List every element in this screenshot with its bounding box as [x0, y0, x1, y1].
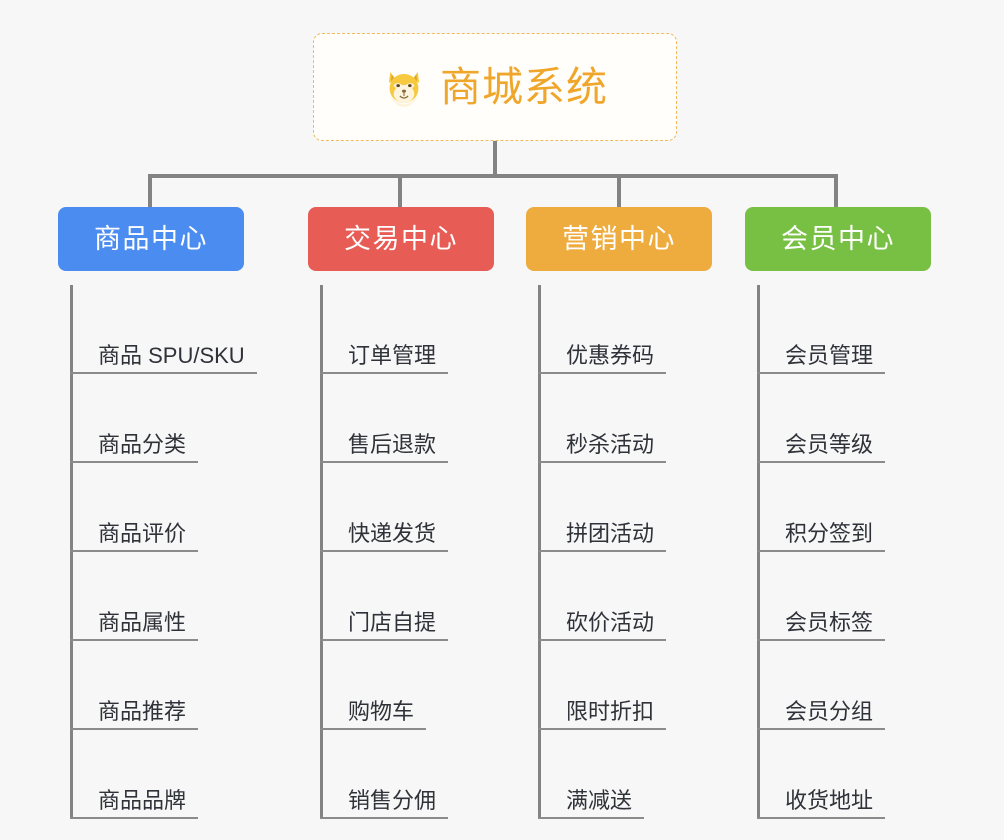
leaf-label: 秒杀活动 — [538, 434, 654, 463]
leaf-label: 商品品牌 — [70, 790, 186, 819]
leaf-label: 满减送 — [538, 790, 632, 819]
leaf-item[interactable]: 门店自提 — [320, 552, 494, 641]
connector-drop-4 — [834, 174, 838, 208]
leaf-item[interactable]: 商品 SPU/SKU — [70, 285, 244, 374]
mindmap-canvas: 商城系统 商品中心 商品 SPU/SKU 商品分类 商品评价 — [0, 0, 1004, 840]
leaf-item[interactable]: 优惠券码 — [538, 285, 712, 374]
leaf-item[interactable]: 商品品牌 — [70, 730, 244, 819]
branch-column-4: 会员中心 会员管理 会员等级 积分签到 会员标签 会员分组 — [745, 207, 931, 819]
leaf-item[interactable]: 销售分佣 — [320, 730, 494, 819]
connector-root-stem — [493, 141, 497, 177]
leaf-item[interactable]: 满减送 — [538, 730, 712, 819]
leaf-item[interactable]: 积分签到 — [757, 463, 931, 552]
root-node[interactable]: 商城系统 — [313, 33, 677, 141]
leaf-label: 订单管理 — [320, 345, 436, 374]
leaf-label: 销售分佣 — [320, 790, 436, 819]
branch-header-1[interactable]: 商品中心 — [58, 207, 244, 271]
leaf-label: 快递发货 — [320, 523, 436, 552]
root-title: 商城系统 — [440, 67, 608, 108]
leaf-label: 收货地址 — [757, 790, 873, 819]
leaf-item[interactable]: 商品推荐 — [70, 641, 244, 730]
leaf-stack-2: 订单管理 售后退款 快递发货 门店自提 购物车 销售分佣 — [320, 285, 494, 819]
leaf-label: 售后退款 — [320, 434, 436, 463]
leaf-item[interactable]: 会员管理 — [757, 285, 931, 374]
branch-header-4[interactable]: 会员中心 — [745, 207, 931, 271]
leaf-label: 优惠券码 — [538, 345, 654, 374]
leaf-label: 会员管理 — [757, 345, 873, 374]
leaf-item[interactable]: 限时折扣 — [538, 641, 712, 730]
shiba-dog-icon — [382, 65, 426, 109]
leaf-stack-1: 商品 SPU/SKU 商品分类 商品评价 商品属性 商品推荐 商品品牌 — [70, 285, 244, 819]
leaf-label: 拼团活动 — [538, 523, 654, 552]
leaf-item[interactable]: 商品属性 — [70, 552, 244, 641]
branch-header-label: 商品中心 — [94, 226, 208, 253]
branch-header-3[interactable]: 营销中心 — [526, 207, 712, 271]
leaf-label: 积分签到 — [757, 523, 873, 552]
leaf-item[interactable]: 砍价活动 — [538, 552, 712, 641]
connector-drop-3 — [617, 174, 621, 208]
leaf-label: 会员标签 — [757, 612, 873, 641]
leaf-item[interactable]: 商品评价 — [70, 463, 244, 552]
leaf-item[interactable]: 收货地址 — [757, 730, 931, 819]
branch-column-3: 营销中心 优惠券码 秒杀活动 拼团活动 砍价活动 限时折扣 — [526, 207, 712, 819]
leaf-stack-3: 优惠券码 秒杀活动 拼团活动 砍价活动 限时折扣 满减送 — [538, 285, 712, 819]
branch-header-label: 会员中心 — [781, 226, 895, 253]
leaf-stack-4: 会员管理 会员等级 积分签到 会员标签 会员分组 收货地址 — [757, 285, 931, 819]
leaf-item[interactable]: 秒杀活动 — [538, 374, 712, 463]
leaf-item[interactable]: 会员分组 — [757, 641, 931, 730]
leaf-label: 商品 SPU/SKU — [70, 345, 245, 374]
leaf-label: 砍价活动 — [538, 612, 654, 641]
leaf-label: 门店自提 — [320, 612, 436, 641]
leaf-label: 商品属性 — [70, 612, 186, 641]
connector-horizontal-bus — [148, 174, 838, 178]
leaf-item[interactable]: 拼团活动 — [538, 463, 712, 552]
branch-header-label: 营销中心 — [562, 226, 676, 253]
leaf-label: 会员分组 — [757, 701, 873, 730]
branch-header-label: 交易中心 — [344, 226, 458, 253]
branch-column-2: 交易中心 订单管理 售后退款 快递发货 门店自提 购物车 — [308, 207, 494, 819]
leaf-label: 限时折扣 — [538, 701, 654, 730]
branch-header-2[interactable]: 交易中心 — [308, 207, 494, 271]
leaf-label: 商品评价 — [70, 523, 186, 552]
connector-drop-1 — [148, 174, 152, 208]
leaf-item[interactable]: 购物车 — [320, 641, 494, 730]
leaf-label: 会员等级 — [757, 434, 873, 463]
leaf-item[interactable]: 快递发货 — [320, 463, 494, 552]
leaf-label: 购物车 — [320, 701, 414, 730]
leaf-item[interactable]: 会员等级 — [757, 374, 931, 463]
connector-drop-2 — [398, 174, 402, 208]
leaf-item[interactable]: 商品分类 — [70, 374, 244, 463]
branch-column-1: 商品中心 商品 SPU/SKU 商品分类 商品评价 商品属性 商品推荐 — [58, 207, 244, 819]
leaf-label: 商品分类 — [70, 434, 186, 463]
leaf-label: 商品推荐 — [70, 701, 186, 730]
leaf-item[interactable]: 订单管理 — [320, 285, 494, 374]
leaf-item[interactable]: 会员标签 — [757, 552, 931, 641]
leaf-item[interactable]: 售后退款 — [320, 374, 494, 463]
